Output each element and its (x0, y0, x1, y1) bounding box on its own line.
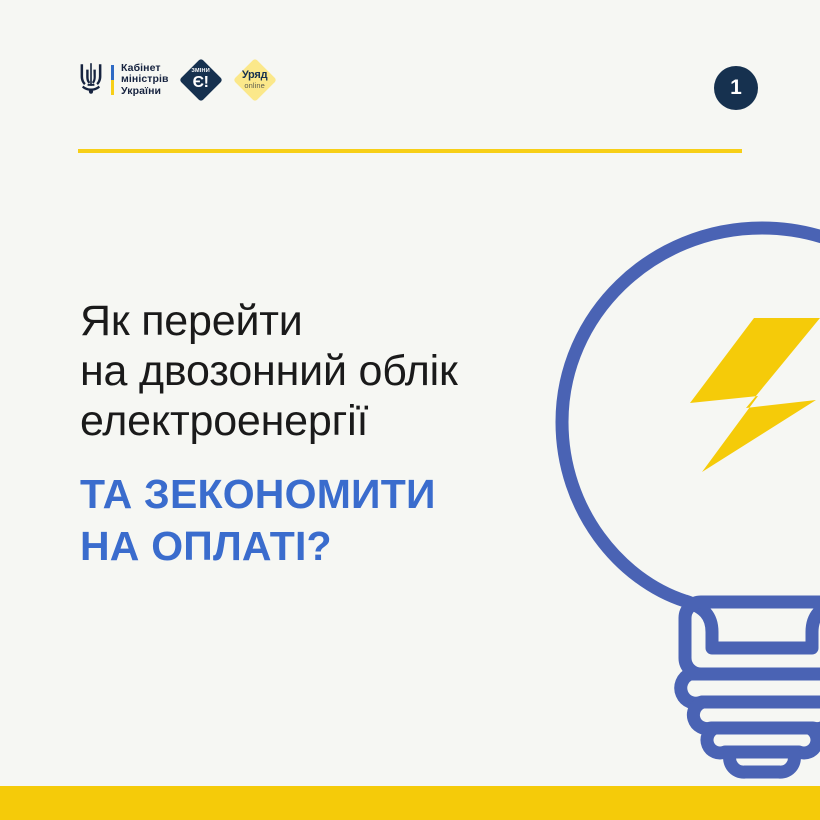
headline-emphasis-line-2: НА ОПЛАТІ? (80, 520, 550, 572)
headline-line-2: на двозонний облік (80, 346, 550, 396)
headline-emphasis-line-1: ТА ЗЕКОНОМИТИ (80, 468, 550, 520)
headline-emphasis-block: ТА ЗЕКОНОМИТИ НА ОПЛАТІ? (80, 468, 550, 572)
slide-number-badge: 1 (714, 66, 758, 110)
zmini-diamond-label: ЗМІНИ Є! (179, 58, 223, 102)
slide-canvas: Кабінет міністрів України ЗМІНИ Є! Уряд … (0, 0, 820, 820)
cabinet-label-line-2: міністрів (121, 74, 169, 85)
ukraine-trident-emblem-icon (78, 61, 104, 100)
footer-accent-band (0, 786, 820, 820)
zmini-diamond-logo-icon: ЗМІНИ Є! (179, 58, 223, 102)
headline-line-3: електроенергії (80, 396, 550, 446)
bulb-screw-base-icon (681, 602, 820, 772)
cabinet-of-ministers-logo: Кабінет міністрів України (78, 61, 169, 100)
headline-block: Як перейти на двозонний облік електроене… (80, 296, 550, 572)
slide-header: Кабінет міністрів України ЗМІНИ Є! Уряд … (0, 0, 820, 140)
logo-row: Кабінет міністрів України ЗМІНИ Є! Уряд … (78, 58, 277, 102)
uryad-online-diamond-logo-icon: Уряд online (233, 58, 277, 102)
cabinet-label-line-3: України (121, 86, 169, 97)
lightning-bolt-icon (690, 318, 820, 472)
cabinet-of-ministers-label: Кабінет міністрів України (121, 63, 169, 97)
headline-line-1: Як перейти (80, 296, 550, 346)
uryad-diamond-label: Уряд online (233, 58, 277, 102)
bulb-outline-icon (562, 228, 820, 648)
header-divider-rule (78, 149, 742, 153)
uryad-small-text: online (244, 82, 265, 90)
logo-divider-bar (111, 65, 114, 95)
zmini-big-text: Є! (193, 75, 209, 91)
uryad-big-text: Уряд (242, 70, 268, 81)
